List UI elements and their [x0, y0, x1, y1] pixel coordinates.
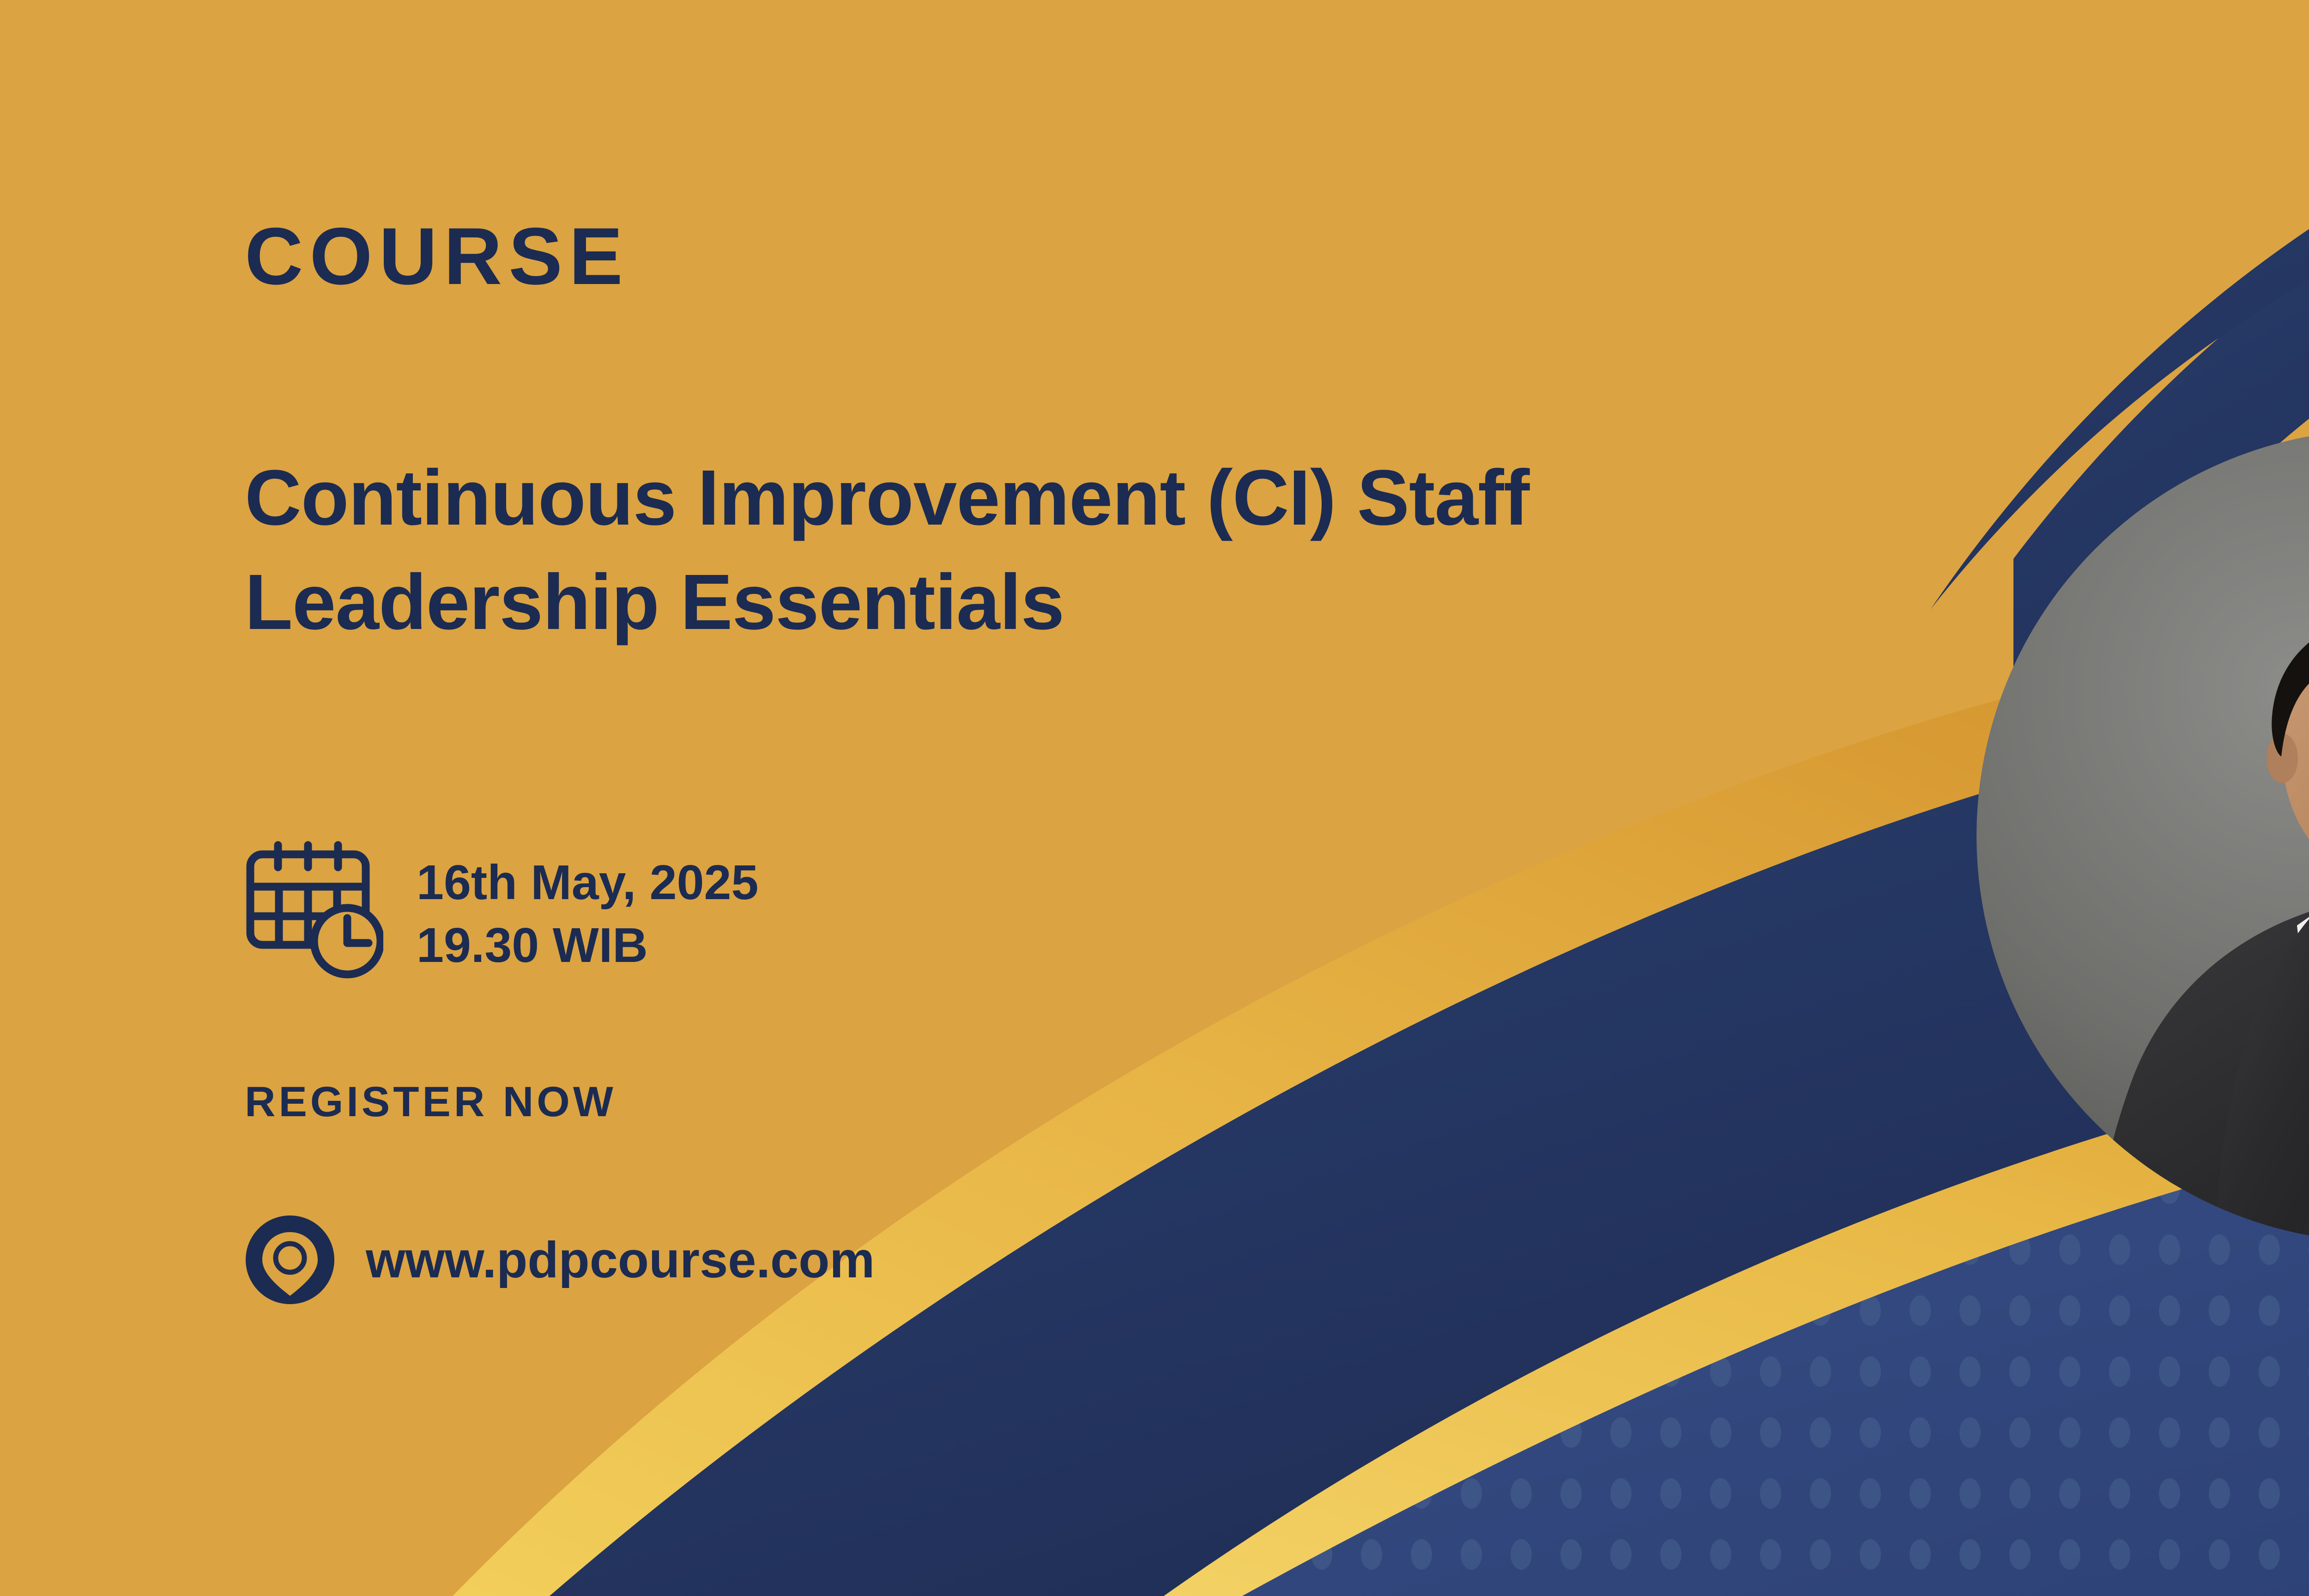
speaker-photo [1977, 429, 2309, 1242]
register-now-label: REGISTER NOW [245, 1081, 617, 1123]
location-pin-icon [245, 1215, 335, 1305]
eyebrow-label: COURSE [245, 216, 629, 297]
speaker-portrait [1977, 429, 2309, 1242]
website-url[interactable]: www.pdpcourse.com [366, 1231, 875, 1289]
page-title: Continuous Improvement (CI) Staff Leader… [245, 446, 1930, 654]
event-date: 16th May, 2025 [417, 852, 758, 914]
schedule-block: 16th May, 2025 19.30 WIB [245, 840, 758, 988]
calendar-clock-icon [245, 840, 383, 988]
schedule-text: 16th May, 2025 19.30 WIB [417, 852, 758, 977]
website-block[interactable]: www.pdpcourse.com [245, 1215, 875, 1305]
course-promo-banner: COURSE Continuous Improvement (CI) Staff… [0, 0, 2309, 1596]
event-time: 19.30 WIB [417, 914, 758, 977]
content-column: COURSE Continuous Improvement (CI) Staff… [245, 0, 1953, 1596]
